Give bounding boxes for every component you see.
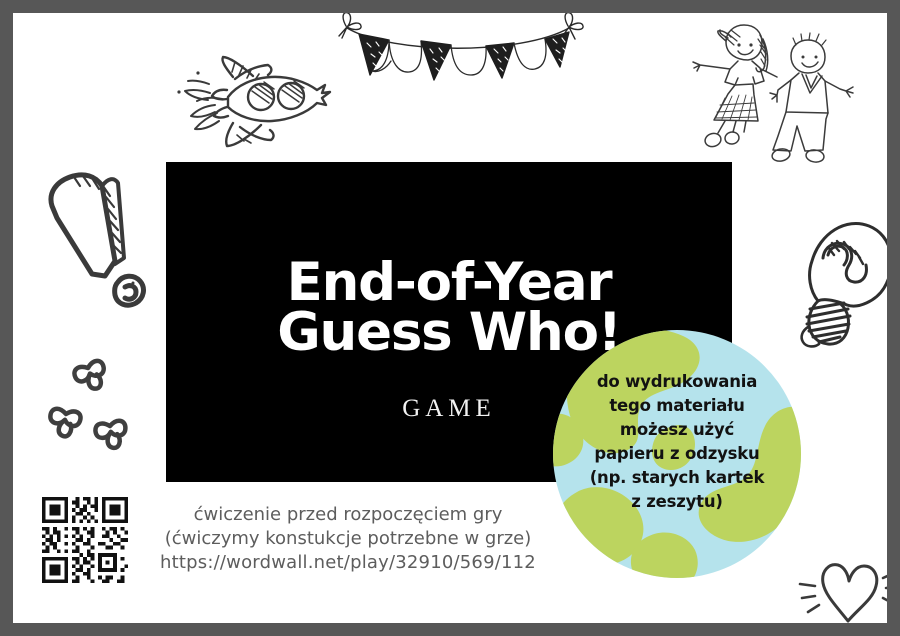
poster-page: End-of-Year Guess Who! GAME do wydru [13,13,887,623]
heart-doodle [793,543,887,623]
bunting-doodle [313,13,603,94]
caption-line-2: (ćwiczymy konstukcje potrzebne w grze) [153,527,543,551]
poster-frame: End-of-Year Guess Who! GAME do wydru [0,0,900,636]
rocket-doodle [165,45,335,170]
globe-callout-text: do wydrukowania tego materiału możesz uż… [565,370,789,514]
clover-doodle [48,350,143,460]
qr-code-image [38,493,132,587]
game-url-link[interactable]: https://wordwall.net/play/32910/569/112 [153,551,543,575]
exclamation-doodle [30,156,160,326]
lightbulb-doodle [788,203,887,373]
qr-code[interactable] [38,493,132,587]
globe-callout: do wydrukowania tego materiału możesz uż… [553,330,801,578]
caption-block: ćwiczenie przed rozpoczęciem gry (ćwiczy… [153,503,543,575]
caption-line-1: ćwiczenie przed rozpoczęciem gry [153,503,543,527]
kids-doodle [678,19,868,169]
